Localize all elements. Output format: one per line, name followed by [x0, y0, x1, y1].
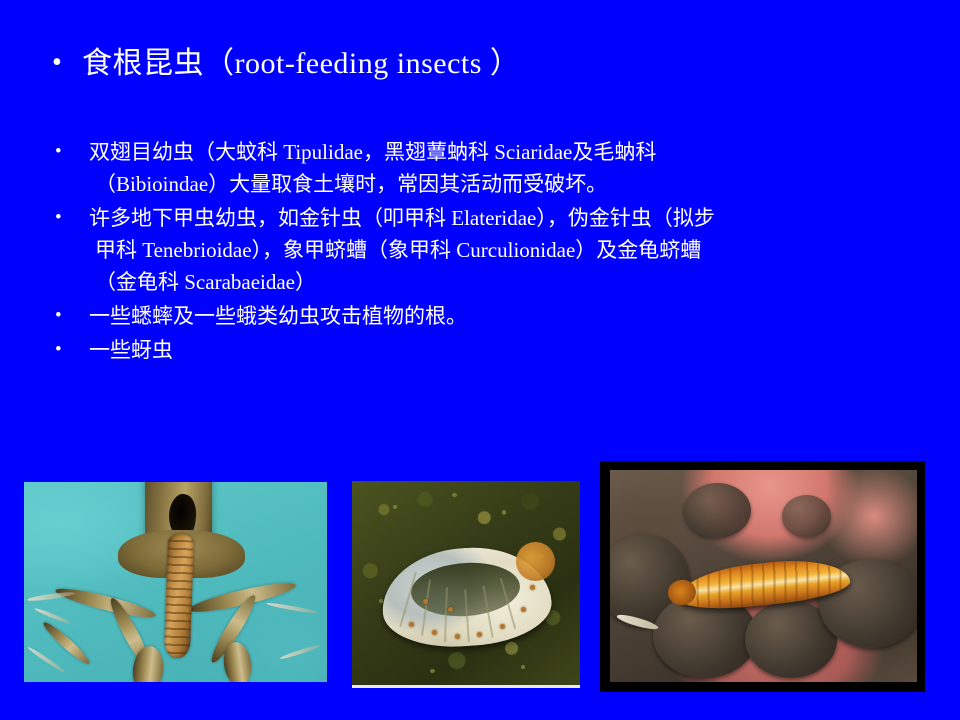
grub-spiracle	[409, 622, 414, 627]
grub-head	[516, 542, 555, 581]
wireworm-on-potato-photo	[600, 461, 925, 692]
bullet-text: 一些蚜虫	[85, 334, 935, 366]
wireworm-on-root-photo	[24, 482, 327, 682]
bullet-line: （金龟科 Scarabaeidae）	[89, 266, 935, 298]
soil-clump	[782, 495, 831, 537]
bullet-line: 一些蟋蟀及一些蛾类幼虫攻击植物的根。	[89, 304, 467, 328]
bullet-item-aphids: • 一些蚜虫	[55, 334, 935, 366]
bullet-text: 一些蟋蟀及一些蛾类幼虫攻击植物的根。	[85, 300, 935, 332]
title-text: 食根昆虫（root-feeding insects ）	[82, 44, 912, 84]
bullet-line: 甲科 Tenebrioidae），象甲蛴螬（象甲科 Curculionidae）…	[89, 234, 935, 266]
wireworm-larva	[164, 534, 194, 659]
bullet-item-crickets-moths: • 一些蟋蟀及一些蛾类幼虫攻击植物的根。	[55, 300, 935, 332]
photo-inner	[610, 470, 917, 682]
bullet-item-beetle-larvae: • 许多地下甲虫幼虫，如金针虫（叩甲科 Elateridae），伪金针虫（拟步 …	[55, 202, 935, 298]
bullet-line: 一些蚜虫	[89, 338, 173, 362]
grub-spiracle	[500, 624, 505, 629]
white-grub-in-soil-photo	[352, 481, 580, 688]
bullet-text: 双翅目幼虫（大蚊科 Tipulidae，黑翅蕈蚋科 Sciaridae及毛蚋科 …	[85, 136, 935, 200]
title-bullet-icon: •	[52, 44, 82, 82]
bullet-icon: •	[55, 300, 85, 332]
bullet-icon: •	[55, 334, 85, 366]
bullet-icon: •	[55, 202, 85, 234]
bullet-text: 许多地下甲虫幼虫，如金针虫（叩甲科 Elateridae），伪金针虫（拟步 甲科…	[85, 202, 935, 298]
bullet-list: • 双翅目幼虫（大蚊科 Tipulidae，黑翅蕈蚋科 Sciaridae及毛蚋…	[55, 136, 935, 368]
slide-title: • 食根昆虫（root-feeding insects ）	[52, 44, 912, 84]
bullet-item-diptera-larvae: • 双翅目幼虫（大蚊科 Tipulidae，黑翅蕈蚋科 Sciaridae及毛蚋…	[55, 136, 935, 200]
bullet-icon: •	[55, 136, 85, 168]
bullet-line: 双翅目幼虫（大蚊科 Tipulidae，黑翅蕈蚋科 Sciaridae及毛蚋科	[89, 140, 656, 164]
grub-spiracle	[432, 630, 437, 635]
grub-spiracle	[455, 634, 460, 639]
slide: • 食根昆虫（root-feeding insects ） • 双翅目幼虫（大蚊…	[0, 0, 960, 720]
bullet-line: 许多地下甲虫幼虫，如金针虫（叩甲科 Elateridae），伪金针虫（拟步	[89, 206, 715, 230]
bullet-line: （Bibioindae）大量取食土壤时，常因其活动而受破坏。	[89, 168, 935, 200]
soil-clump	[684, 483, 752, 538]
grub-spiracle	[530, 585, 535, 590]
